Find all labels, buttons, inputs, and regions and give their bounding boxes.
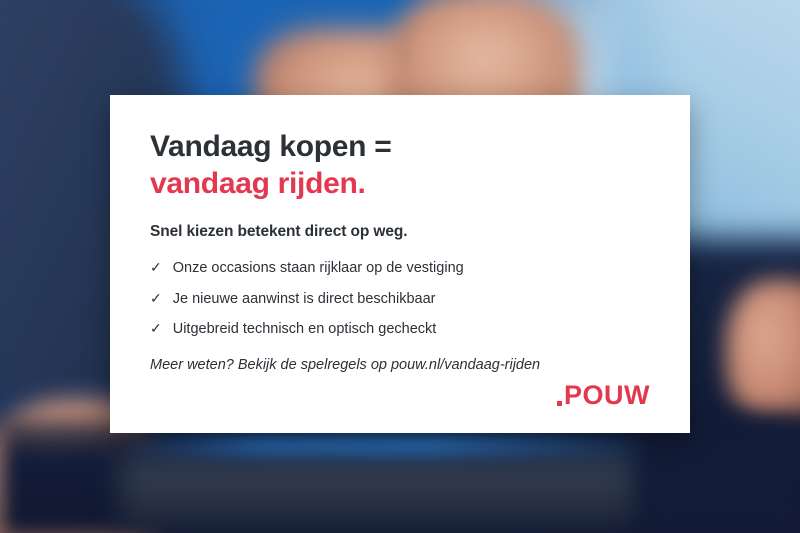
promo-card: Vandaag kopen = vandaag rijden. Snel kie… xyxy=(110,95,690,433)
headline-line-1: Vandaag kopen = xyxy=(150,130,391,163)
logo-wordmark: POUW xyxy=(564,380,650,411)
check-icon: ✓ xyxy=(150,291,162,305)
subheading: Snel kiezen betekent direct op weg. xyxy=(150,223,650,241)
footnote-text: Meer weten? Bekijk de spelregels op pouw… xyxy=(150,357,650,373)
check-icon: ✓ xyxy=(150,260,162,274)
logo-dot-icon xyxy=(557,401,562,406)
list-item-label: Je nieuwe aanwinst is direct beschikbaar xyxy=(173,291,436,308)
page-title: Vandaag kopen = vandaag rijden. xyxy=(150,129,650,202)
benefit-list: ✓ Onze occasions staan rijklaar op de ve… xyxy=(150,260,650,351)
list-item: ✓ Uitgebreid technisch en optisch gechec… xyxy=(150,321,650,338)
headline-line-2: vandaag rijden. xyxy=(150,166,650,203)
logo-row: POUW xyxy=(150,380,650,411)
list-item: ✓ Onze occasions staan rijklaar op de ve… xyxy=(150,260,650,277)
list-item: ✓ Je nieuwe aanwinst is direct beschikba… xyxy=(150,291,650,308)
check-icon: ✓ xyxy=(150,321,162,335)
list-item-label: Onze occasions staan rijklaar op de vest… xyxy=(173,260,464,277)
list-item-label: Uitgebreid technisch en optisch gecheckt xyxy=(173,321,437,338)
promo-banner: Vandaag kopen = vandaag rijden. Snel kie… xyxy=(0,0,800,533)
pouw-logo[interactable]: POUW xyxy=(557,380,650,411)
